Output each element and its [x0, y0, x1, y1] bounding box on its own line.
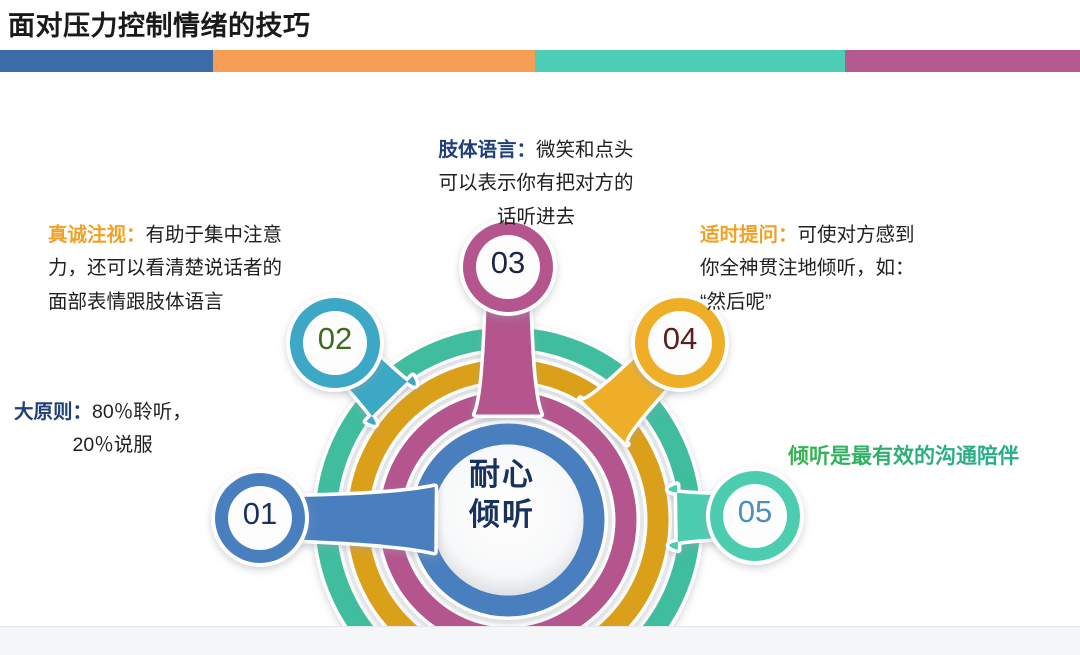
note-main-principle-label: 大原则：	[14, 401, 92, 423]
node-face-03	[476, 235, 540, 299]
note-timely-question: 适时提问：可使对方感到 你全神贯注地倾听，如： “然后呢”	[700, 185, 1000, 319]
footer-band	[0, 626, 1080, 655]
node-face-01	[228, 486, 292, 550]
note-sincere-gaze-label: 真诚注视：	[48, 224, 146, 246]
node-face-04	[648, 311, 712, 375]
note-body-language-label: 肢体语言：	[438, 139, 536, 161]
note-body-language: 肢体语言：微笑和点头 可以表示你有把对方的 话听进去	[386, 100, 686, 234]
node-face-05	[723, 484, 787, 548]
note-timely-question-label: 适时提问：	[700, 224, 798, 246]
node-face-02	[303, 311, 367, 375]
note-main-principle: 大原则：80％聆听， 20％说服	[14, 362, 254, 463]
center-disc	[433, 445, 584, 596]
page-title: 面对压力控制情绪的技巧	[8, 4, 311, 43]
slide-canvas: 面对压力控制情绪的技巧 耐心倾听 肢体语言：微笑和点头 可以表示你有把对方的 话…	[0, 0, 1080, 655]
tagline-text: 倾听是最有效的沟通陪伴	[788, 440, 1019, 470]
note-sincere-gaze: 真诚注视：有助于集中注意 力，还可以看清楚说话者的 面部表情跟肢体语言	[48, 185, 358, 319]
